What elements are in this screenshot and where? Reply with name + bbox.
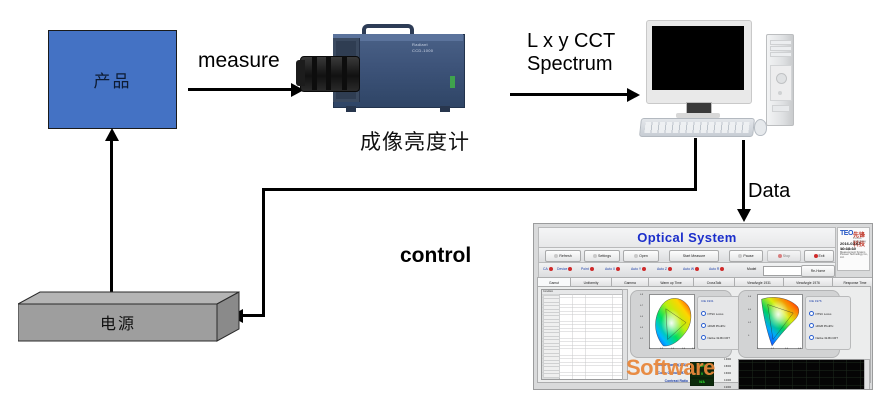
camera-lens-ring-1 — [312, 56, 317, 90]
edge-label-data: Data — [748, 180, 790, 203]
camera-foot-right — [440, 106, 450, 112]
gamut-1931-ytick-0: 0.9 — [640, 294, 643, 296]
gamut-1931-legend-item-2[interactable]: sRGB PhotPix — [701, 323, 725, 328]
toolbar-pause-button[interactable]: Pause — [729, 250, 763, 262]
stop-icon — [778, 254, 782, 258]
camera-status-led — [450, 76, 455, 88]
status-led-autoy — [642, 267, 646, 271]
tower-badge — [772, 105, 790, 112]
pc-tower — [766, 34, 794, 126]
toolbar-open-label: Open — [639, 254, 648, 258]
spectrum-ytick-3: 0.4000 — [724, 380, 731, 382]
spectrum-plot[interactable] — [738, 359, 865, 390]
toolbar-stop-button[interactable]: Stop — [767, 250, 801, 262]
node-power-supply: 电源 — [18, 291, 240, 343]
gamut-1976-legend-item-1[interactable]: NTSC Locus — [809, 311, 831, 316]
edge-label-signal-line2: Spectrum — [527, 53, 615, 76]
tower-power-button — [776, 73, 787, 84]
control-line-vertical — [694, 138, 697, 190]
logo-text-line-2: Pioneer Technology Co., Ltd. — [840, 253, 869, 259]
radio-icon — [809, 335, 814, 340]
close-icon — [814, 254, 818, 258]
status-led-autor — [720, 267, 724, 271]
gamut-1931-xtick-1: 0.2 — [660, 348, 663, 350]
edge-label-measure: measure — [198, 49, 280, 73]
tower-drive-slot-2 — [770, 46, 792, 51]
spectrum-ytick-4: 0.2000 — [724, 387, 731, 389]
toolbar-refresh-label: Refresh — [559, 254, 572, 258]
gamut-1931-plot[interactable] — [649, 294, 695, 349]
control-line-horizontal-top — [262, 188, 697, 191]
node-computer — [640, 20, 780, 138]
camera-lens-ring-3 — [342, 56, 347, 90]
measurement-table[interactable]: Condition — [541, 289, 627, 380]
toolbar-refresh-button[interactable]: Refresh — [545, 250, 581, 262]
status-led-autoz — [668, 267, 672, 271]
status-item-point: Point — [581, 267, 594, 271]
spectrum-ytick-2: 0.6000 — [724, 373, 731, 375]
keyboard — [639, 118, 755, 137]
gamut-1976-legend-label-2: sRGB PhotPix — [816, 324, 834, 328]
camera-foot-left — [346, 106, 356, 112]
status-item-autox: Auto X — [605, 267, 620, 271]
data-line — [742, 140, 745, 210]
gamut-1976-xtick-0: 0 — [757, 348, 758, 350]
gamut-1976-legend-label-1: NTSC Locus — [816, 312, 832, 316]
toolbar-exit-button[interactable]: Exit — [804, 250, 834, 262]
status-label-ca: CA — [543, 267, 548, 271]
refresh-icon — [554, 254, 558, 258]
status-item-device: Device — [557, 267, 572, 271]
status-label-autoz: Auto Z — [657, 267, 667, 271]
spectrum-ytick-0: 1.0000 — [724, 359, 731, 361]
edge-label-control: control — [400, 244, 471, 268]
node-product-label: 产品 — [94, 67, 132, 92]
gamut-1976-ytick-0: 0.6 — [748, 296, 751, 298]
control-line-vertical-left — [262, 188, 265, 316]
node-product: 产品 — [48, 30, 177, 129]
toolbar-settings-button[interactable]: Settings — [584, 250, 620, 262]
power-to-product-line — [110, 140, 113, 292]
radio-icon — [701, 323, 706, 328]
gamut-1931-legend-label-3: Native 32-Bit CRT — [708, 336, 731, 340]
status-field-label: Model — [747, 267, 756, 271]
software-toolbar: Refresh Settings Open Start Measure Paus… — [538, 247, 836, 263]
toolbar-start-measure-label: Start Measure — [683, 254, 706, 258]
toolbar-open-button[interactable]: Open — [623, 250, 659, 262]
gamut-1931-legend-label-2: sRGB PhotPix — [708, 324, 726, 328]
arrow-signal-head — [627, 88, 640, 102]
toolbar-stop-label: Stop — [783, 254, 790, 258]
gamut-1931-ytick-8: 0.1 — [640, 338, 643, 340]
gamut-1931-ytick-2: 0.7 — [640, 305, 643, 307]
spectrum-scrollbar[interactable] — [864, 359, 870, 390]
status-label-point: Point — [581, 267, 589, 271]
software-statusbar: CA Device Point Auto X Auto Y Auto Z Aut… — [538, 262, 836, 278]
spectrum-ytick-1: 0.8000 — [724, 366, 731, 368]
software-screenshot[interactable]: Optical System ver 1.0.0 TEO 先锋科技 Pionee… — [533, 223, 873, 390]
rehome-button[interactable]: Re-Home — [801, 265, 835, 277]
status-item-autoy: Auto Y — [631, 267, 646, 271]
gamut-1976-legend-label-3: Native 32-Bit CRT — [816, 336, 839, 340]
arrow-signal-line — [510, 93, 628, 96]
spectrum-y-axis: 1.0000 0.8000 0.6000 0.4000 0.2000 0.000… — [724, 359, 737, 390]
gamut-1931-legend-item-1[interactable]: NTSC Locus — [701, 311, 723, 316]
gamut-1931-panel: CIE 1931 NTSC Locus sRGB PhotPix Native … — [630, 290, 732, 358]
status-item-autoz: Auto Z — [657, 267, 672, 271]
status-item-autow: Auto W — [683, 267, 699, 271]
node-power-supply-label: 电源 — [100, 310, 136, 334]
tower-drive-slot-1 — [770, 40, 792, 45]
edge-label-signal: L x y CCT Spectrum — [527, 30, 615, 76]
radio-icon — [701, 311, 706, 316]
gamut-1976-xtick-1: 0.2 — [771, 348, 774, 350]
gamut-1976-plot[interactable] — [757, 294, 803, 349]
gamut-1931-legend-label-1: NTSC Locus — [708, 312, 724, 316]
gamut-1931-xtick-2: 0.4 — [671, 348, 674, 350]
camera-brand-text: RadiantCCD-1000 — [412, 42, 433, 55]
control-line-to-power — [242, 314, 265, 317]
gamut-1931-xtick-0: 0 — [649, 348, 650, 350]
rehome-label: Re-Home — [811, 269, 826, 273]
status-led-point — [590, 267, 594, 271]
node-camera-caption: 成像亮度计 — [360, 126, 470, 156]
gamut-1931-ytick-6: 0.3 — [640, 327, 643, 329]
logo-mark: TEO — [840, 230, 853, 237]
tower-drive-slot-3 — [770, 52, 792, 57]
table-row[interactable] — [543, 373, 560, 378]
pause-icon — [738, 254, 742, 258]
software-title: Optical System — [539, 230, 835, 245]
status-label-device: Device — [557, 267, 567, 271]
folder-icon — [634, 254, 638, 258]
status-label-autox: Auto X — [605, 267, 615, 271]
radio-icon — [701, 335, 706, 340]
gamut-1976-ytick-6: 0 — [748, 335, 749, 337]
status-led-device — [568, 267, 572, 271]
gamut-1976-legend-item-3[interactable]: Native 32-Bit CRT — [809, 335, 838, 340]
spectrum-gridlines — [739, 360, 864, 390]
status-led-autox — [616, 267, 620, 271]
table-column-lines — [559, 294, 626, 379]
gamut-1976-panel: CIE 1976 NTSC Locus sRGB PhotPix Native … — [738, 290, 840, 358]
software-logo-box: TEO 先锋科技 Pioneer Technology 2016-03-07 1… — [837, 227, 870, 271]
monitor-screen — [652, 26, 744, 90]
gamut-1976-ytick-4: 0.2 — [748, 322, 751, 324]
gamut-1931-legend-title: CIE 1931 — [701, 299, 714, 303]
toolbar-exit-label: Exit — [819, 254, 825, 258]
keyboard-keys — [644, 122, 749, 133]
power-to-product-head — [105, 128, 119, 141]
toolbar-pause-label: Pause — [743, 254, 753, 258]
gamut-1931-xtick-3: 0.6 — [682, 348, 685, 350]
status-label-autor: Auto R — [709, 267, 719, 271]
radio-icon — [809, 323, 814, 328]
gamut-1931-xtick-4: 0.8 — [692, 348, 695, 350]
status-item-ca: CA — [543, 267, 553, 271]
gamut-1976-legend-item-2[interactable]: sRGB PhotPix — [809, 323, 833, 328]
radio-icon — [809, 311, 814, 316]
cie-1931-horseshoe — [650, 295, 694, 348]
gamut-1976-legend: CIE 1976 NTSC Locus sRGB PhotPix Native … — [805, 296, 851, 350]
status-label-autow: Auto W — [683, 267, 694, 271]
arrow-measure-line — [188, 88, 292, 91]
node-camera: RadiantCCD-1000 — [300, 24, 465, 119]
gamut-1976-xtick-3: 0.6 — [798, 348, 801, 350]
camera-lens-front — [296, 60, 305, 86]
tower-led — [778, 91, 782, 95]
camera-lens-ring-2 — [326, 56, 331, 90]
toolbar-settings-label: Settings — [598, 254, 611, 258]
gamut-1931-ytick-4: 0.5 — [640, 316, 643, 318]
software-watermark: Software — [626, 355, 715, 381]
gear-icon — [593, 254, 597, 258]
edge-label-signal-line1: L x y CCT — [527, 30, 615, 53]
data-arrow-head — [737, 209, 751, 222]
toolbar-start-measure-button[interactable]: Start Measure — [669, 250, 719, 262]
status-item-autor: Auto R — [709, 267, 724, 271]
status-led-autow — [695, 267, 699, 271]
status-label-autoy: Auto Y — [631, 267, 641, 271]
power-supply-front-face: 电源 — [18, 303, 218, 341]
status-led-ca — [549, 267, 553, 271]
diagram-canvas: 产品 measure RadiantCCD-1000 成像亮度计 L x y C… — [0, 0, 873, 410]
gamut-1931-legend: CIE 1931 NTSC Locus sRGB PhotPix Native … — [697, 296, 743, 350]
gamut-1976-xtick-2: 0.4 — [785, 348, 788, 350]
gamut-1976-legend-title: CIE 1976 — [809, 299, 822, 303]
software-tabstrip: Gamut Uniformity Gamma Warm up Time Cros… — [537, 277, 869, 286]
gamut-1976-ytick-2: 0.4 — [748, 309, 751, 311]
software-content-area: Condition — [537, 286, 871, 383]
cie-1976-gamut-shape — [758, 295, 802, 348]
gamut-1931-legend-item-3[interactable]: Native 32-Bit CRT — [701, 335, 730, 340]
